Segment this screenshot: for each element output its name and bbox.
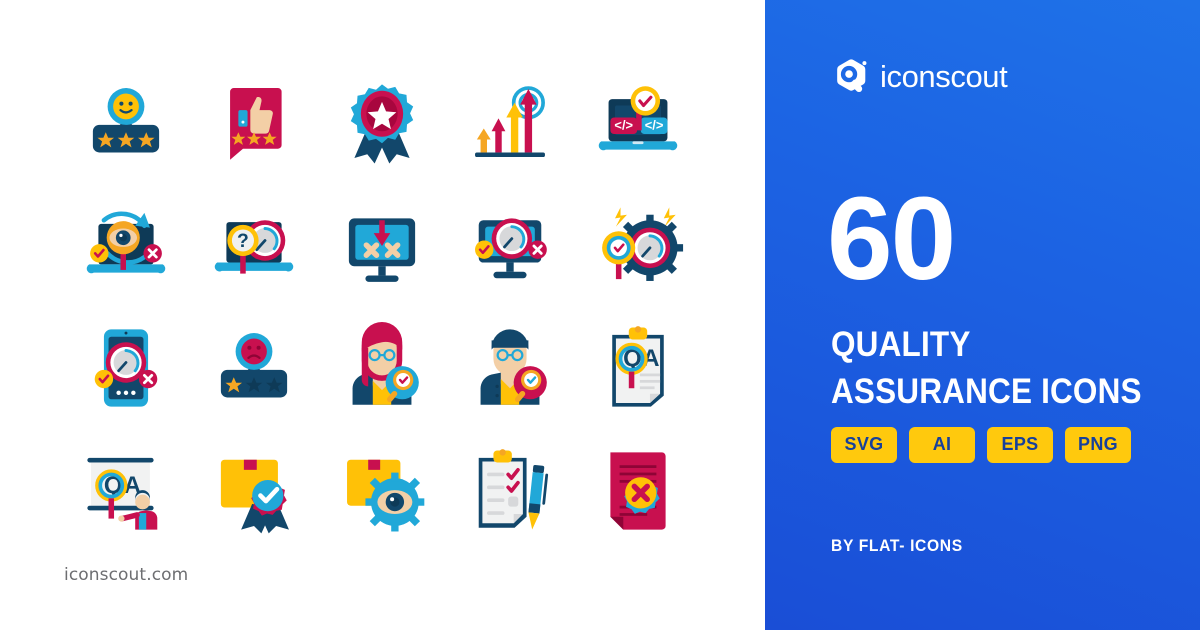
icon-cell-thumbs-up-review[interactable] <box>190 62 318 185</box>
icon-cell-checklist-pen[interactable] <box>446 430 574 553</box>
icon-cell-gear-performance-search[interactable] <box>574 185 702 308</box>
format-badge-eps[interactable]: EPS <box>987 427 1053 463</box>
brand-name-label: iconscout <box>880 61 1007 92</box>
icon-cell-failed-test-monitor[interactable] <box>318 185 446 308</box>
icon-cell-negative-feedback-rating[interactable] <box>190 307 318 430</box>
code-testing-laptop-icon: </> </> <box>592 77 684 169</box>
icon-showcase-panel: </> </> <box>0 0 765 630</box>
icon-cell-qa-male-engineer[interactable] <box>446 307 574 430</box>
qa-female-engineer-icon <box>336 322 428 414</box>
pack-title-line-2: ASSURANCE ICONS <box>831 369 1146 416</box>
icon-cell-qa-presentation-board[interactable]: Q A <box>62 430 190 553</box>
icon-cell-mobile-performance-test[interactable] <box>62 307 190 430</box>
icon-cell-code-testing-laptop[interactable]: </> </> <box>574 62 702 185</box>
icon-cell-visual-inspection-laptop[interactable] <box>62 185 190 308</box>
mobile-performance-test-icon <box>80 322 172 414</box>
author-credit: BY FLAT- ICONS <box>831 536 963 556</box>
icon-cell-performance-test-monitor[interactable] <box>446 185 574 308</box>
icon-cell-quality-award-badge[interactable] <box>318 62 446 185</box>
performance-test-monitor-icon <box>464 200 556 292</box>
svg-text:</>: </> <box>614 118 633 133</box>
visual-inspection-laptop-icon <box>80 200 172 292</box>
rejected-document-icon <box>592 445 684 537</box>
icon-cell-happy-customer-rating[interactable] <box>62 62 190 185</box>
site-url-label: iconscout.com <box>64 565 188 585</box>
icon-cell-package-inspection-gear[interactable] <box>318 430 446 553</box>
svg-text:?: ? <box>237 231 249 252</box>
icon-cell-certified-package[interactable] <box>190 430 318 553</box>
icon-count: 60 <box>827 185 954 294</box>
format-badge-ai[interactable]: AI <box>909 427 975 463</box>
qa-presentation-board-icon: Q A <box>80 445 172 537</box>
icon-grid: </> </> <box>62 62 702 552</box>
growth-chart-arrows-icon <box>464 77 556 169</box>
icon-cell-question-search-laptop[interactable]: ? <box>190 185 318 308</box>
quality-award-badge-icon <box>336 77 428 169</box>
icon-cell-qa-clipboard-document[interactable]: Q A <box>574 307 702 430</box>
pack-title-line-1: QUALITY <box>831 322 1146 369</box>
thumbs-up-review-icon <box>208 77 300 169</box>
failed-test-monitor-icon <box>336 200 428 292</box>
checklist-pen-icon <box>464 445 556 537</box>
icon-cell-qa-female-engineer[interactable] <box>318 307 446 430</box>
svg-text:</>: </> <box>645 118 664 133</box>
gear-performance-search-icon <box>592 200 684 292</box>
icon-cell-growth-chart-arrows[interactable] <box>446 62 574 185</box>
question-search-laptop-icon: ? <box>208 200 300 292</box>
format-badge-list: SVG AI EPS PNG <box>831 427 1131 463</box>
pack-title: QUALITY ASSURANCE ICONS <box>831 322 1181 415</box>
package-inspection-gear-icon <box>336 445 428 537</box>
format-badge-png[interactable]: PNG <box>1065 427 1131 463</box>
icon-cell-rejected-document[interactable] <box>574 430 702 553</box>
happy-customer-rating-icon <box>80 77 172 169</box>
info-panel: iconscout 60 QUALITY ASSURANCE ICONS SVG… <box>765 0 1200 630</box>
certified-package-icon <box>208 445 300 537</box>
format-badge-svg[interactable]: SVG <box>831 427 897 463</box>
qa-male-engineer-icon <box>464 322 556 414</box>
brand-lockup[interactable]: iconscout <box>831 57 1007 95</box>
icon-pack-preview: </> </> <box>0 0 1200 630</box>
qa-clipboard-document-icon: Q A <box>592 322 684 414</box>
iconscout-hexagon-logo-icon <box>831 57 869 95</box>
negative-feedback-rating-icon <box>208 322 300 414</box>
